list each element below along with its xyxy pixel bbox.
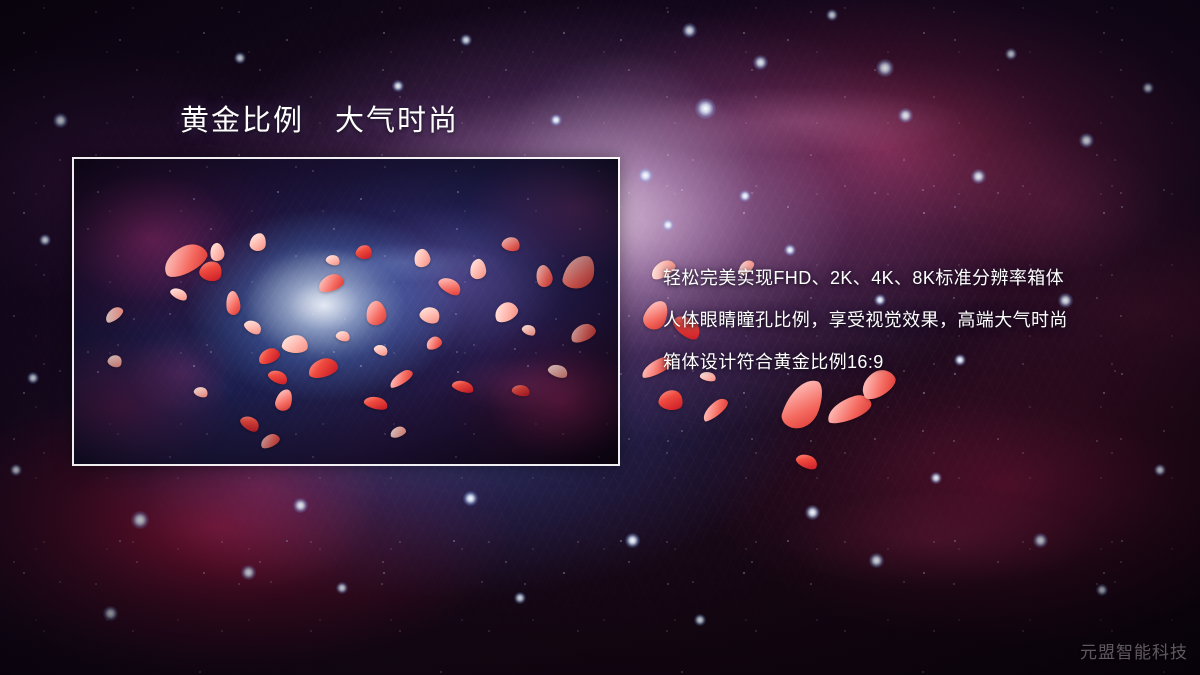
bright-star [805,505,820,520]
bright-star [460,34,472,46]
bright-star [1005,48,1017,60]
bright-star [930,472,942,484]
watermark-label: 元盟智能科技 [1080,638,1188,663]
bright-star [293,498,308,513]
bright-star [1096,584,1108,596]
presentation-slide: 黄金比例 大气时尚 轻松完美实现FHD、2K、4K、8K标准分辨率箱体 人体眼睛… [0,0,1200,675]
bright-star [898,108,913,123]
bright-star [1142,82,1154,94]
copy-line-2: 人体眼睛瞳孔比例，享受视觉效果，高端大气时尚 [663,299,1163,341]
bright-star [27,372,39,384]
flower-petal [699,396,731,424]
photo-vignette [74,159,618,464]
bright-star [241,565,256,580]
bright-star [682,23,697,38]
flower-petal [824,392,874,426]
bright-star [514,592,526,604]
bright-star [876,59,894,77]
bright-star [10,464,22,476]
flower-petal [794,451,819,472]
bright-star [638,168,653,183]
bright-star [869,553,884,568]
bright-star [1154,464,1166,476]
bright-star [234,52,246,64]
bright-star [826,9,838,21]
copy-line-1: 轻松完美实现FHD、2K、4K、8K标准分辨率箱体 [663,257,1163,299]
bright-star [550,114,562,126]
page-title: 黄金比例 大气时尚 [180,103,459,140]
bright-star [694,614,706,626]
bright-star [1033,533,1048,548]
bright-star [103,606,118,621]
copy-line-3: 箱体设计符合黄金比例16:9 [663,341,1163,383]
flower-petal [779,374,827,434]
framed-photo [72,157,620,466]
bright-star [695,98,716,119]
bright-star [39,234,51,246]
bright-star [662,219,674,231]
body-copy-block: 轻松完美实现FHD、2K、4K、8K标准分辨率箱体 人体眼睛瞳孔比例，享受视觉效… [663,257,1163,383]
bright-star [131,511,149,529]
bright-star [1079,133,1094,148]
bright-star [971,169,986,184]
bright-star [753,55,768,70]
bright-star [53,113,68,128]
bright-star [392,80,404,92]
bright-star [739,190,751,202]
bright-star [625,533,640,548]
bright-star [463,491,478,506]
bright-star [336,582,348,594]
bright-star [784,244,796,256]
flower-petal [657,388,685,413]
